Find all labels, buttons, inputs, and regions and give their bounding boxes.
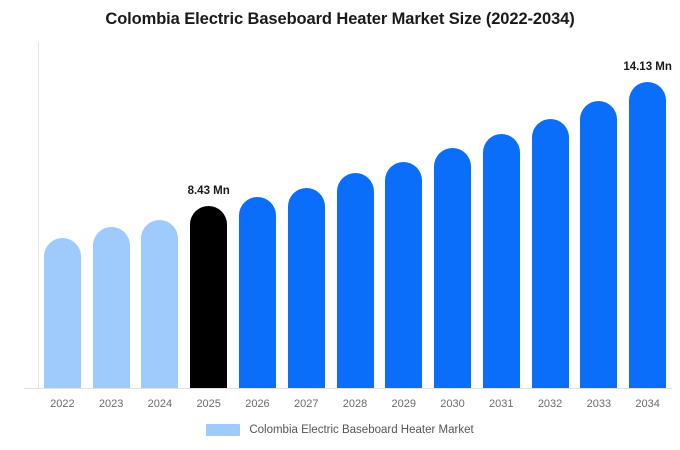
bar-value-label: 14.13 Mn <box>603 61 680 73</box>
chart-container: Colombia Electric Baseboard Heater Marke… <box>0 0 680 450</box>
bar[interactable] <box>141 220 178 388</box>
bar-value-label: 8.43 Mn <box>164 185 254 197</box>
chart-title: Colombia Electric Baseboard Heater Marke… <box>0 10 680 29</box>
bar[interactable] <box>580 101 617 388</box>
bar[interactable] <box>288 188 325 388</box>
bar[interactable] <box>44 238 81 388</box>
chart-legend: Colombia Electric Baseboard Heater Marke… <box>0 424 680 436</box>
bar[interactable] <box>532 119 569 388</box>
bar[interactable] <box>337 173 374 388</box>
x-axis-line <box>24 388 672 389</box>
plot-area <box>38 42 672 388</box>
legend-label: Colombia Electric Baseboard Heater Marke… <box>249 424 473 436</box>
bar[interactable] <box>434 148 471 388</box>
bar[interactable] <box>190 206 227 388</box>
bar[interactable] <box>385 162 422 388</box>
bar[interactable] <box>629 82 666 388</box>
bar[interactable] <box>483 134 520 388</box>
bar[interactable] <box>239 197 276 388</box>
legend-swatch <box>206 424 240 436</box>
x-axis-tick: 2034 <box>618 398 678 410</box>
bar[interactable] <box>93 227 130 388</box>
